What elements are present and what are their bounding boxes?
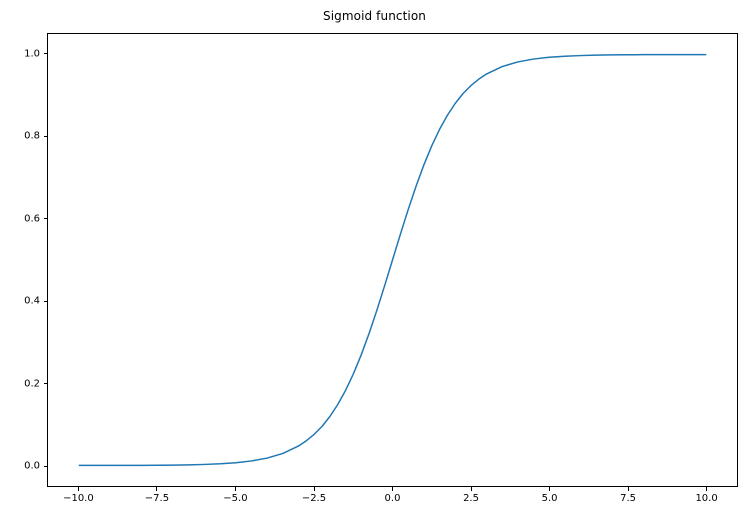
matplotlib-figure: Sigmoid function 0.00.20.40.60.81.0 −10.… bbox=[0, 0, 749, 528]
x-tick-mark bbox=[78, 487, 79, 491]
x-tick-mark bbox=[471, 487, 472, 491]
x-tick-mark bbox=[392, 487, 393, 491]
x-tick-mark bbox=[706, 487, 707, 491]
y-tick-label: 0.8 bbox=[1, 131, 40, 142]
y-tick-mark bbox=[44, 301, 48, 302]
y-tick-mark bbox=[44, 218, 48, 219]
y-tick-label: 1.0 bbox=[1, 48, 40, 59]
x-tick-label: −10.0 bbox=[63, 493, 94, 504]
x-tick-label: 7.5 bbox=[620, 493, 636, 504]
x-tick-label: 10.0 bbox=[695, 493, 717, 504]
x-tick-label: −5.0 bbox=[223, 493, 247, 504]
x-tick-label: 5.0 bbox=[542, 493, 558, 504]
page-title: Sigmoid function bbox=[0, 9, 749, 23]
y-tick-label: 0.0 bbox=[1, 461, 40, 472]
sigmoid-curve-svg bbox=[48, 34, 737, 486]
plot-axes bbox=[47, 33, 738, 487]
y-tick-mark bbox=[44, 383, 48, 384]
y-tick-mark bbox=[44, 466, 48, 467]
y-tick-label: 0.2 bbox=[1, 378, 40, 389]
y-tick-label: 0.4 bbox=[1, 296, 40, 307]
x-tick-mark bbox=[628, 487, 629, 491]
y-tick-label: 0.6 bbox=[1, 213, 40, 224]
y-tick-mark bbox=[44, 53, 48, 54]
x-tick-mark bbox=[235, 487, 236, 491]
y-tick-mark bbox=[44, 136, 48, 137]
x-tick-label: 2.5 bbox=[463, 493, 479, 504]
x-tick-label: 0.0 bbox=[385, 493, 401, 504]
x-tick-label: −7.5 bbox=[145, 493, 169, 504]
sigmoid-line bbox=[79, 55, 705, 466]
x-tick-mark bbox=[549, 487, 550, 491]
x-tick-mark bbox=[314, 487, 315, 491]
x-tick-label: −2.5 bbox=[302, 493, 326, 504]
x-tick-mark bbox=[156, 487, 157, 491]
